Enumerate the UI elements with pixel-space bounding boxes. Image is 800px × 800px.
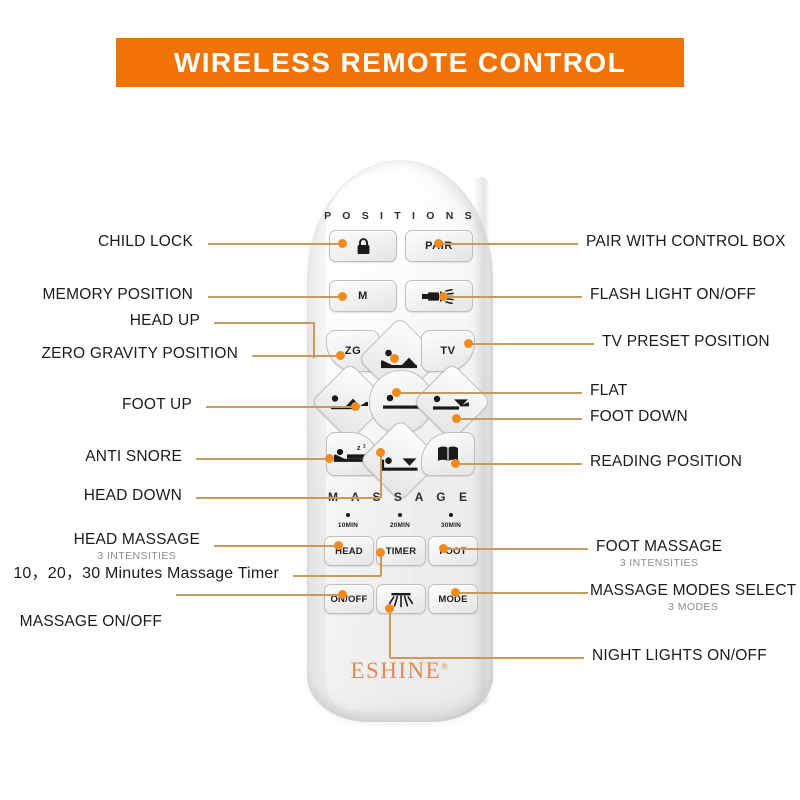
leader-line-foot-massage: [443, 548, 588, 550]
indicator-label-20min: 20MIN: [383, 522, 417, 529]
callout-foot-down: FOOT DOWN: [590, 408, 688, 426]
callout-child-lock-label: CHILD LOCK: [98, 233, 193, 250]
callout-flat: FLAT: [590, 382, 628, 400]
callout-massage-timer: 10，20，30 Minutes Massage Timer: [13, 565, 279, 583]
head-up-bed-icon: [378, 349, 422, 369]
brand-logo: ESHINE®: [307, 658, 493, 684]
callout-head-up: HEAD UP: [130, 312, 200, 330]
dot-child-lock: [338, 239, 347, 248]
leader-line-foot-up: [206, 406, 355, 408]
foot-down-bed-icon: [430, 393, 474, 411]
dot-massage-mode: [451, 588, 460, 597]
button-head-massage[interactable]: HEAD: [324, 536, 374, 566]
button-reading-position[interactable]: [421, 432, 475, 476]
callout-reading-position-label: READING POSITION: [590, 453, 742, 470]
leader-line-anti-snore: [196, 458, 329, 460]
callout-head-up-label: HEAD UP: [130, 312, 200, 329]
svg-text:z: z: [363, 444, 366, 450]
callout-foot-down-label: FOOT DOWN: [590, 408, 688, 425]
callout-head-down: HEAD DOWN: [84, 487, 182, 505]
callout-head-massage-label: HEAD MASSAGE: [74, 531, 200, 548]
callout-anti-snore-label: ANTI SNORE: [85, 448, 182, 465]
brand-trademark: ®: [441, 661, 449, 671]
leader-line-child-lock: [208, 243, 342, 245]
dot-head-down: [376, 448, 385, 457]
callout-foot-up: FOOT UP: [122, 396, 192, 414]
leader-line-night-lights: [390, 657, 584, 659]
callout-foot-massage-label: FOOT MASSAGE: [596, 538, 722, 555]
dot-foot-down: [452, 414, 461, 423]
indicator-dot-10min: [346, 513, 350, 517]
callout-massage-timer-label: 10，20，30 Minutes Massage Timer: [13, 565, 279, 582]
dot-massage-timer: [376, 548, 385, 557]
callout-foot-massage-sub: 3 INTENSITIES: [596, 557, 722, 569]
leader-line-flat: [396, 392, 582, 394]
callout-pair-with-control-box: PAIR WITH CONTROL BOX: [586, 233, 786, 251]
dot-head-massage: [334, 541, 343, 550]
callout-reading-position: READING POSITION: [590, 453, 742, 471]
leader-line-memory-position: [208, 296, 342, 298]
foot-up-bed-icon: [328, 393, 372, 411]
dot-reading: [451, 459, 460, 468]
infographic-page: WIRELESS REMOTE CONTROL CHILD LOCK MEMOR…: [0, 0, 800, 800]
callout-child-lock: CHILD LOCK: [98, 233, 193, 251]
button-massage-on-off[interactable]: ON/OFF: [324, 584, 374, 614]
callout-foot-massage: FOOT MASSAGE 3 INTENSITIES: [596, 538, 722, 569]
leader-line-massage-onoff: [176, 594, 342, 596]
dot-memory-position: [338, 292, 347, 301]
dot-zero-gravity: [336, 351, 345, 360]
remote-edge-shadow: [473, 177, 489, 705]
dot-flat: [392, 388, 401, 397]
leader-line-head-down-vert: [380, 452, 382, 498]
callout-tv-preset: TV PRESET POSITION: [602, 333, 770, 351]
callout-massage-onoff: MASSAGE ON/OFF: [20, 613, 162, 631]
dot-foot-massage: [439, 544, 448, 553]
leader-line-head-up-vert: [313, 322, 315, 358]
svg-text:z: z: [357, 445, 361, 452]
dot-tv-preset: [464, 339, 473, 348]
dot-foot-up: [351, 402, 360, 411]
button-foot-massage[interactable]: FOOT: [428, 536, 478, 566]
indicator-dot-30min: [449, 513, 453, 517]
button-memory-label: M: [358, 290, 368, 302]
leader-line-head-up: [214, 322, 314, 324]
callout-pair-label: PAIR WITH CONTROL BOX: [586, 233, 786, 250]
header-banner: WIRELESS REMOTE CONTROL: [116, 38, 684, 87]
leader-line-night-lights-vert: [389, 608, 391, 658]
head-down-bed-icon: [379, 451, 423, 471]
indicator-dot-20min: [398, 513, 402, 517]
brand-name: ESHINE: [350, 658, 441, 683]
leader-line-zero-gravity: [252, 355, 340, 357]
dot-head-up: [390, 354, 399, 363]
dot-pair: [434, 239, 443, 248]
dot-massage-onoff: [338, 590, 347, 599]
callout-flat-label: FLAT: [590, 382, 628, 399]
leader-line-foot-down: [456, 418, 582, 420]
button-timer-label: TIMER: [386, 546, 417, 557]
button-night-light[interactable]: [376, 584, 426, 614]
leader-line-head-massage: [214, 545, 338, 547]
leader-line-flash-light: [443, 296, 582, 298]
callout-head-massage-sub: 3 INTENSITIES: [74, 550, 200, 562]
leader-line-reading: [455, 463, 582, 465]
callout-flash-light: FLASH LIGHT ON/OFF: [590, 286, 756, 304]
button-zero-gravity-label: ZG: [345, 345, 361, 357]
leader-line-mode-select: [455, 592, 588, 594]
indicator-label-10min: 10MIN: [331, 522, 365, 529]
callout-massage-onoff-label: MASSAGE ON/OFF: [20, 613, 162, 630]
callout-zero-gravity: ZERO GRAVITY POSITION: [41, 345, 238, 363]
callout-head-down-label: HEAD DOWN: [84, 487, 182, 504]
positions-section-label: P O S I T I O N S: [307, 210, 493, 222]
leader-line-tv-preset: [468, 343, 594, 345]
callout-massage-modes: MASSAGE MODES SELECT 3 MODES: [590, 582, 796, 613]
callout-foot-up-label: FOOT UP: [122, 396, 192, 413]
callout-night-lights: NIGHT LIGHTS ON/OFF: [592, 647, 767, 665]
callout-zero-gravity-label: ZERO GRAVITY POSITION: [41, 345, 238, 362]
leader-line-head-down: [196, 497, 381, 499]
page-title: WIRELESS REMOTE CONTROL: [174, 47, 626, 79]
callout-head-massage: HEAD MASSAGE 3 INTENSITIES: [74, 531, 200, 562]
leader-line-massage-timer: [293, 575, 381, 577]
callout-memory-position: MEMORY POSITION: [42, 286, 193, 304]
callout-massage-modes-label: MASSAGE MODES SELECT: [590, 582, 796, 599]
callout-night-lights-label: NIGHT LIGHTS ON/OFF: [592, 647, 767, 664]
callout-massage-modes-sub: 3 MODES: [590, 601, 796, 613]
lock-icon: [356, 238, 371, 255]
dot-night-light: [385, 604, 394, 613]
button-tv-label: TV: [440, 345, 455, 357]
callout-tv-preset-label: TV PRESET POSITION: [602, 333, 770, 350]
callout-memory-position-label: MEMORY POSITION: [42, 286, 193, 303]
indicator-label-30min: 30MIN: [434, 522, 468, 529]
dot-anti-snore: [325, 454, 334, 463]
dot-flash-light: [439, 292, 448, 301]
callout-flash-light-label: FLASH LIGHT ON/OFF: [590, 286, 756, 303]
callout-anti-snore: ANTI SNORE: [85, 448, 182, 466]
leader-line-pair: [438, 243, 578, 245]
